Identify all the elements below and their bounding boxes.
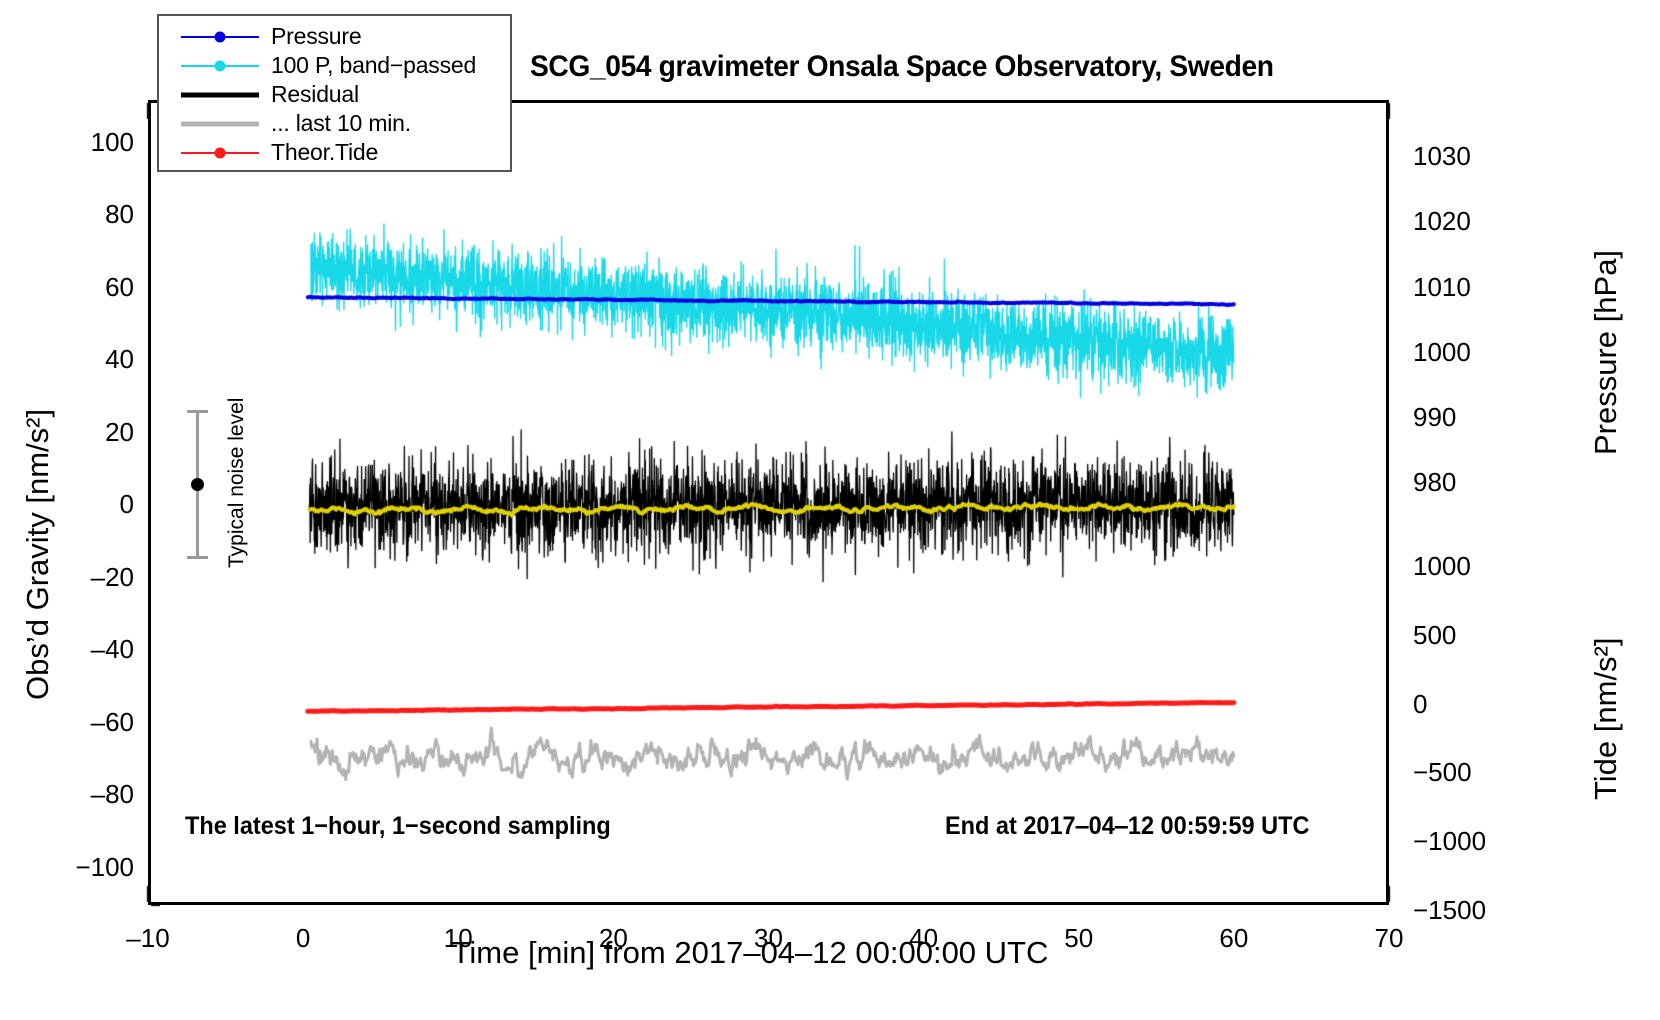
y-axis-label-pressure: Pressure [hPa] xyxy=(1588,250,1624,455)
legend: Pressure 100 P, band−passed Residual ...… xyxy=(157,14,512,172)
y-tick-label-6: ‒20 xyxy=(30,562,134,593)
tide-tick-label-1: 500 xyxy=(1413,620,1533,651)
legend-item-bandpassed[interactable]: 100 P, band−passed xyxy=(159,51,510,80)
y-tick-label-10: −100 xyxy=(30,852,134,883)
noise-center-dot xyxy=(191,478,204,491)
x-tick-label-4: 30 xyxy=(709,923,829,954)
legend-item-residual[interactable]: Residual xyxy=(159,80,510,109)
legend-label-last10: ... last 10 min. xyxy=(271,110,411,137)
plot-traces-canvas xyxy=(148,100,1389,905)
tide-tick-label-5: −1500 xyxy=(1413,895,1533,926)
legend-item-last10[interactable]: ... last 10 min. xyxy=(159,109,510,138)
y-axis-label-tide: Tide [nm/s²] xyxy=(1588,638,1624,801)
x-tick-label-5: 40 xyxy=(864,923,984,954)
legend-swatch-tide xyxy=(181,146,259,160)
y-tick-label-2: 60 xyxy=(30,272,134,303)
x-tick-label-1: 0 xyxy=(243,923,363,954)
pressure-tick-label-4: 990 xyxy=(1413,402,1513,433)
legend-swatch-bandpassed xyxy=(181,59,259,73)
legend-item-pressure[interactable]: Pressure xyxy=(159,22,510,51)
x-tick-label-3: 20 xyxy=(553,923,673,954)
y-tick-label-1: 80 xyxy=(30,199,134,230)
legend-label-tide: Theor.Tide xyxy=(271,139,378,166)
legend-swatch-pressure xyxy=(181,30,259,44)
tide-tick-label-0: 1000 xyxy=(1413,551,1533,582)
x-tick-label-8: 70 xyxy=(1329,923,1449,954)
pressure-tick-label-0: 1030 xyxy=(1413,141,1513,172)
latest-sampling-note: The latest 1−hour, 1−second sampling xyxy=(185,812,611,841)
tide-tick-label-4: −1000 xyxy=(1413,826,1533,857)
end-time-note: End at 2017‒04‒12 00:59:59 UTC xyxy=(945,812,1309,841)
noise-label: Typical noise level xyxy=(225,398,249,568)
x-tick-label-2: 10 xyxy=(398,923,518,954)
x-tick-label-7: 60 xyxy=(1174,923,1294,954)
y-tick-label-3: 40 xyxy=(30,344,134,375)
pressure-tick-label-1: 1020 xyxy=(1413,206,1513,237)
x-tick-label-0: ‒10 xyxy=(88,923,208,954)
legend-label-bandpassed: 100 P, band−passed xyxy=(271,52,476,79)
pressure-tick-label-2: 1010 xyxy=(1413,272,1513,303)
y-tick-label-9: ‒80 xyxy=(30,779,134,810)
noise-cap-bottom xyxy=(187,556,208,559)
y-tick-label-0: 100 xyxy=(30,127,134,158)
y-tick-label-8: ‒60 xyxy=(30,707,134,738)
tide-tick-label-3: −500 xyxy=(1413,757,1533,788)
chart-page: SCG_054 gravimeter Onsala Space Observat… xyxy=(0,0,1660,1020)
legend-label-pressure: Pressure xyxy=(271,23,361,50)
x-tick-label-6: 50 xyxy=(1019,923,1139,954)
page-title: SCG_054 gravimeter Onsala Space Observat… xyxy=(530,50,1274,84)
typical-noise-level-annotation: Typical noise level xyxy=(183,404,263,569)
legend-swatch-last10 xyxy=(181,117,259,131)
y-tick-label-5: 0 xyxy=(30,489,134,520)
y-tick-label-4: 20 xyxy=(30,417,134,448)
legend-swatch-residual xyxy=(181,88,259,102)
legend-item-tide[interactable]: Theor.Tide xyxy=(159,138,510,167)
y-tick-label-7: ‒40 xyxy=(30,634,134,665)
pressure-tick-label-5: 980 xyxy=(1413,467,1513,498)
pressure-tick-label-3: 1000 xyxy=(1413,337,1513,368)
legend-label-residual: Residual xyxy=(271,81,359,108)
tide-tick-label-2: 0 xyxy=(1413,689,1533,720)
